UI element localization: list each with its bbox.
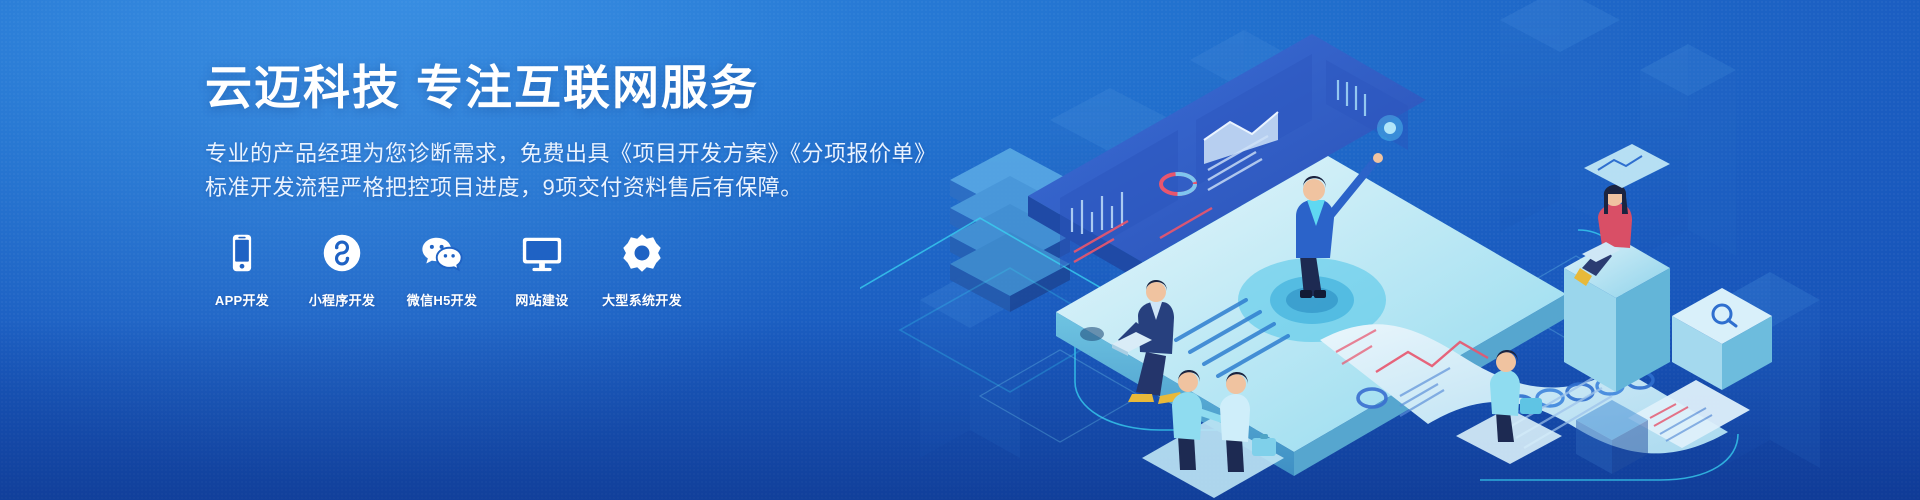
service-item-wechat-h5[interactable]: 微信H5开发 bbox=[405, 230, 479, 309]
gear-icon bbox=[619, 230, 665, 276]
banner-subtitle: 专业的产品经理为您诊断需求，免费出具《项目开发方案》《分项报价单》 标准开发流程… bbox=[205, 137, 925, 205]
service-label: 小程序开发 bbox=[309, 290, 376, 309]
service-label: 大型系统开发 bbox=[602, 290, 682, 309]
service-item-mini-program[interactable]: 小程序开发 bbox=[305, 230, 379, 309]
service-list: APP开发 小程序开发 bbox=[205, 230, 679, 309]
mini-program-icon bbox=[319, 230, 365, 276]
service-item-website[interactable]: 网站建设 bbox=[505, 230, 579, 309]
banner-copy: 云迈科技 专注互联网服务 专业的产品经理为您诊断需求，免费出具《项目开发方案》《… bbox=[205, 62, 925, 205]
subtitle-line-2: 标准开发流程严格把控项目进度，9项交付资料售后有保障。 bbox=[205, 171, 925, 205]
server-stack bbox=[950, 148, 1070, 312]
service-label: 网站建设 bbox=[515, 290, 568, 309]
service-label: APP开发 bbox=[215, 290, 269, 309]
service-item-app[interactable]: APP开发 bbox=[205, 230, 279, 309]
monitor-icon bbox=[519, 230, 565, 276]
service-label: 微信H5开发 bbox=[407, 290, 477, 309]
isometric-tech-team-illustration bbox=[860, 0, 1920, 500]
mobile-phone-icon bbox=[219, 230, 265, 276]
service-item-large-system[interactable]: 大型系统开发 bbox=[605, 230, 679, 309]
promo-banner: 云迈科技 专注互联网服务 专业的产品经理为您诊断需求，免费出具《项目开发方案》《… bbox=[0, 0, 1920, 500]
page-title: 云迈科技 专注互联网服务 bbox=[205, 62, 925, 115]
subtitle-line-1: 专业的产品经理为您诊断需求，免费出具《项目开发方案》《分项报价单》 bbox=[205, 137, 925, 171]
wechat-icon bbox=[419, 230, 465, 276]
